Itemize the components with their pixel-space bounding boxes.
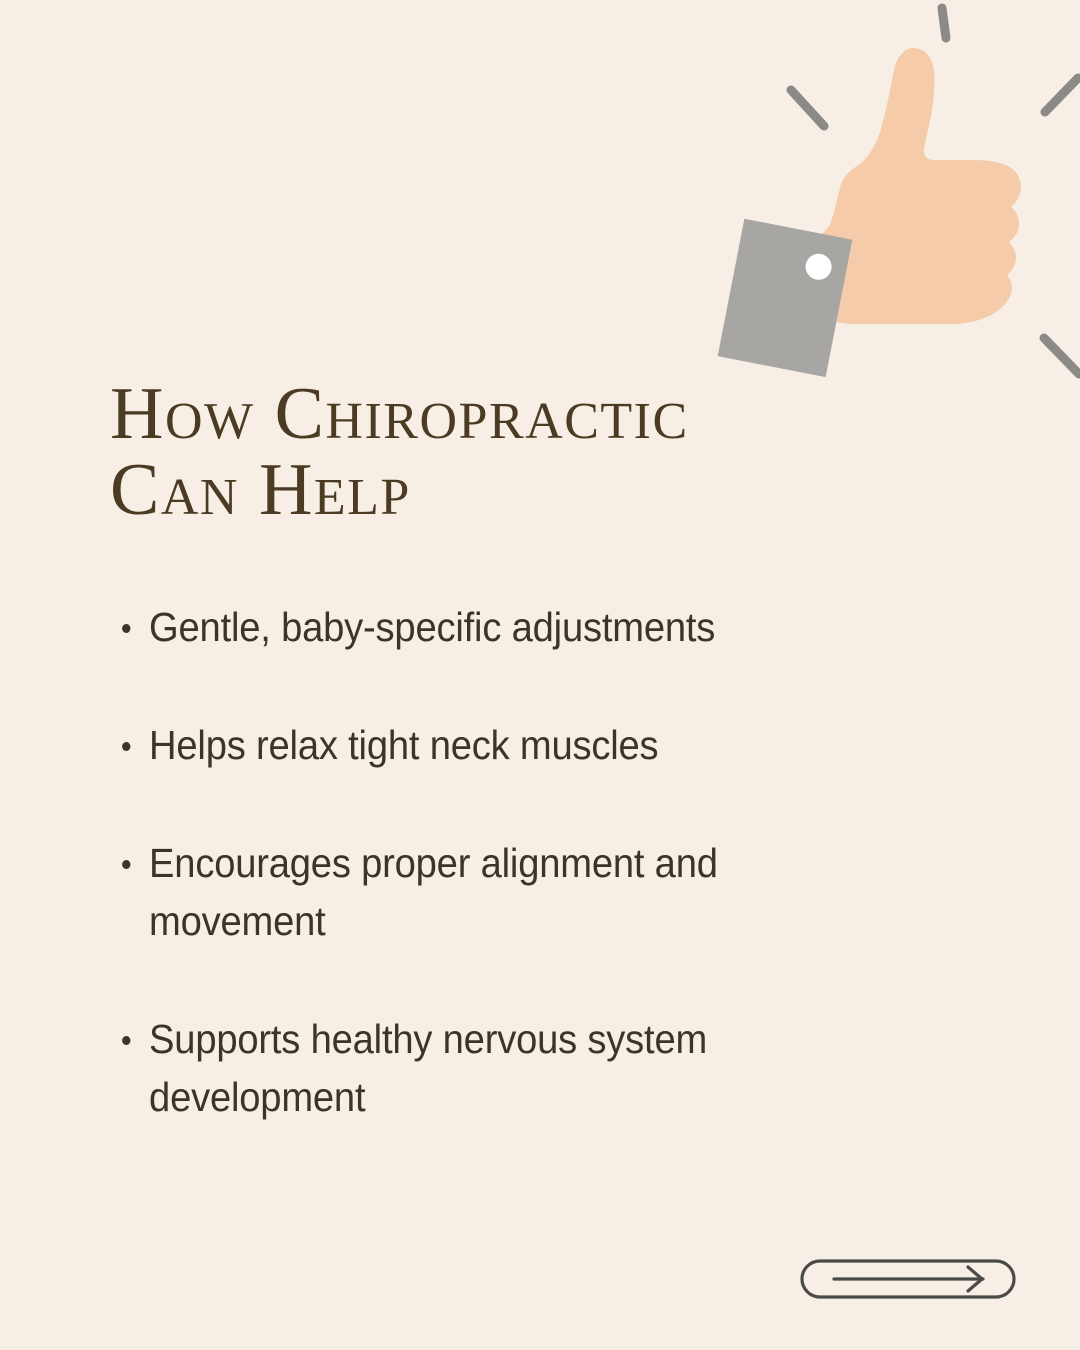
next-arrow-button[interactable]: [800, 1259, 1016, 1299]
arrow-right-icon: [834, 1267, 983, 1291]
list-item: Gentle, baby-specific adjustments: [110, 598, 882, 656]
bullet-dot-icon: [122, 624, 130, 633]
shirt-cuff-icon: [718, 219, 853, 377]
list-item: Supports healthy nervous system developm…: [110, 1010, 882, 1126]
list-item: Encourages proper alignment and movement: [110, 834, 882, 950]
bullet-dot-icon: [122, 742, 130, 751]
list-item-label: Gentle, baby-specific adjustments: [149, 598, 882, 656]
thumbs-up-illustration: [700, 0, 1080, 400]
bullet-dot-icon: [122, 860, 130, 869]
benefits-list: Gentle, baby-specific adjustments Helps …: [110, 598, 940, 1126]
page-title: How Chiropractic Can Help: [110, 376, 910, 528]
list-item: Helps relax tight neck muscles: [110, 716, 882, 774]
thumbs-up-hand-icon: [814, 48, 1021, 324]
sparkle-line-top-icon: [942, 8, 946, 38]
page-title-line-1: How Chiropractic: [110, 376, 910, 452]
list-item-label: Supports healthy nervous system developm…: [149, 1010, 882, 1126]
poster-canvas: How Chiropractic Can Help Gentle, baby-s…: [0, 0, 1080, 1350]
bullet-dot-icon: [122, 1036, 130, 1045]
sparkle-line-lower-right-icon: [1044, 338, 1079, 374]
sparkle-line-upper-right-icon: [1045, 78, 1078, 112]
list-item-label: Encourages proper alignment and movement: [149, 834, 882, 950]
list-item-label: Helps relax tight neck muscles: [149, 716, 882, 774]
sparkle-line-upper-left-icon: [791, 90, 824, 126]
page-title-line-2: Can Help: [110, 452, 910, 528]
